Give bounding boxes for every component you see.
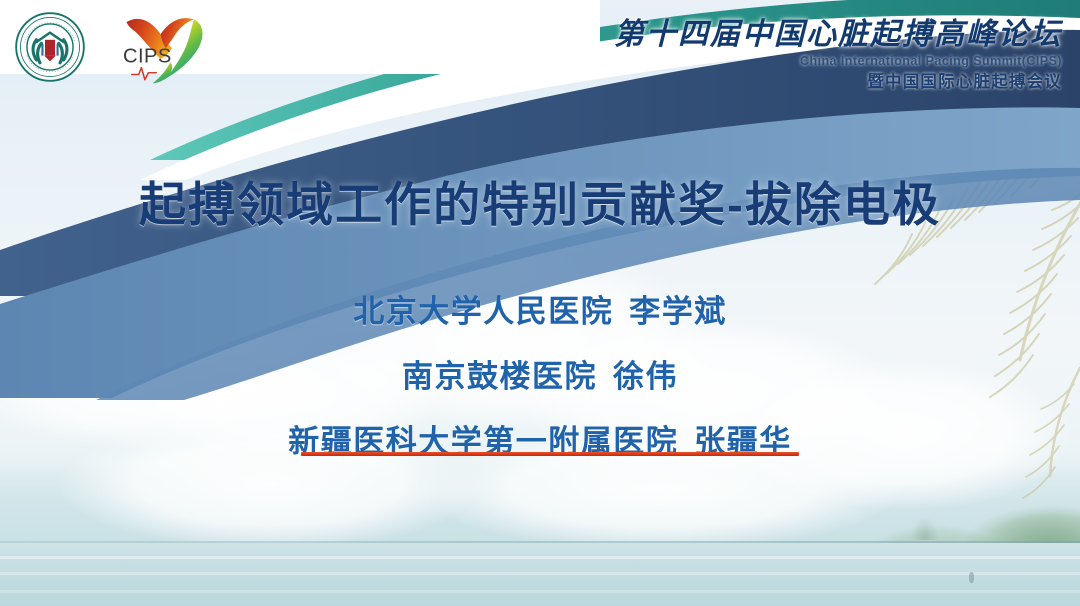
swimmer-figure: [969, 572, 974, 583]
page-title: 起搏领域工作的特别贡献奖-拔除电极: [0, 166, 1080, 235]
speaker-name: 李学斌: [629, 294, 727, 329]
event-header: 第十四届中国心脏起搏高峰论坛 China International Pacin…: [614, 20, 1062, 90]
svg-text:CIPS: CIPS: [123, 45, 172, 67]
headland-hill-secondary: [950, 492, 1080, 547]
sea-wave-band: [0, 572, 1080, 575]
speaker-affiliation: 南京鼓楼医院: [402, 359, 597, 394]
speaker-list: 北京大学人民医院李学斌 南京鼓楼医院徐伟 新疆医科大学第一附属医院张疆华: [0, 286, 1080, 461]
logo-backdrop-plate: [0, 0, 600, 74]
event-title-english: China International Pacing Summit(CIPS): [614, 55, 1062, 68]
event-title-chinese: 第十四届中国心脏起搏高峰论坛: [614, 20, 1062, 50]
speaker-row: 南京鼓楼医院徐伟: [0, 351, 1080, 396]
sea-wave-band: [0, 590, 1080, 593]
event-subtitle: 暨中国国际心脏起搏会议: [614, 74, 1062, 91]
speaker-name: 徐伟: [613, 359, 678, 394]
sea-wave-band: [0, 556, 1080, 559]
speaker-affiliation: 北京大学人民医院: [353, 294, 613, 329]
cips-logo-icon: CIPS: [112, 8, 218, 92]
cscp-seal-icon: [14, 11, 86, 83]
sea-rock: [912, 518, 938, 540]
presentation-slide: CIPS 第十四届中国心脏起搏高峰论坛 China International …: [0, 0, 1080, 606]
accent-underline: [301, 452, 799, 456]
speaker-row: 北京大学人民医院李学斌: [0, 286, 1080, 331]
